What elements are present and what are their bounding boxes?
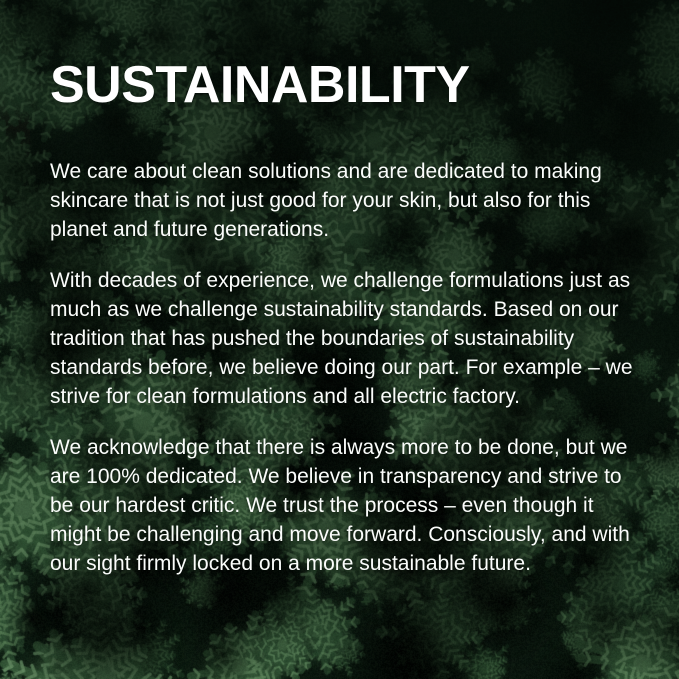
sustainability-page: SUSTAINABILITY We care about clean solut… (0, 0, 679, 679)
paragraph-3: We acknowledge that there is always more… (50, 433, 642, 578)
paragraph-2: With decades of experience, we challenge… (50, 266, 642, 411)
paragraph-1: We care about clean solutions and are de… (50, 157, 642, 244)
content-block: SUSTAINABILITY We care about clean solut… (50, 58, 642, 578)
page-title: SUSTAINABILITY (50, 58, 642, 113)
